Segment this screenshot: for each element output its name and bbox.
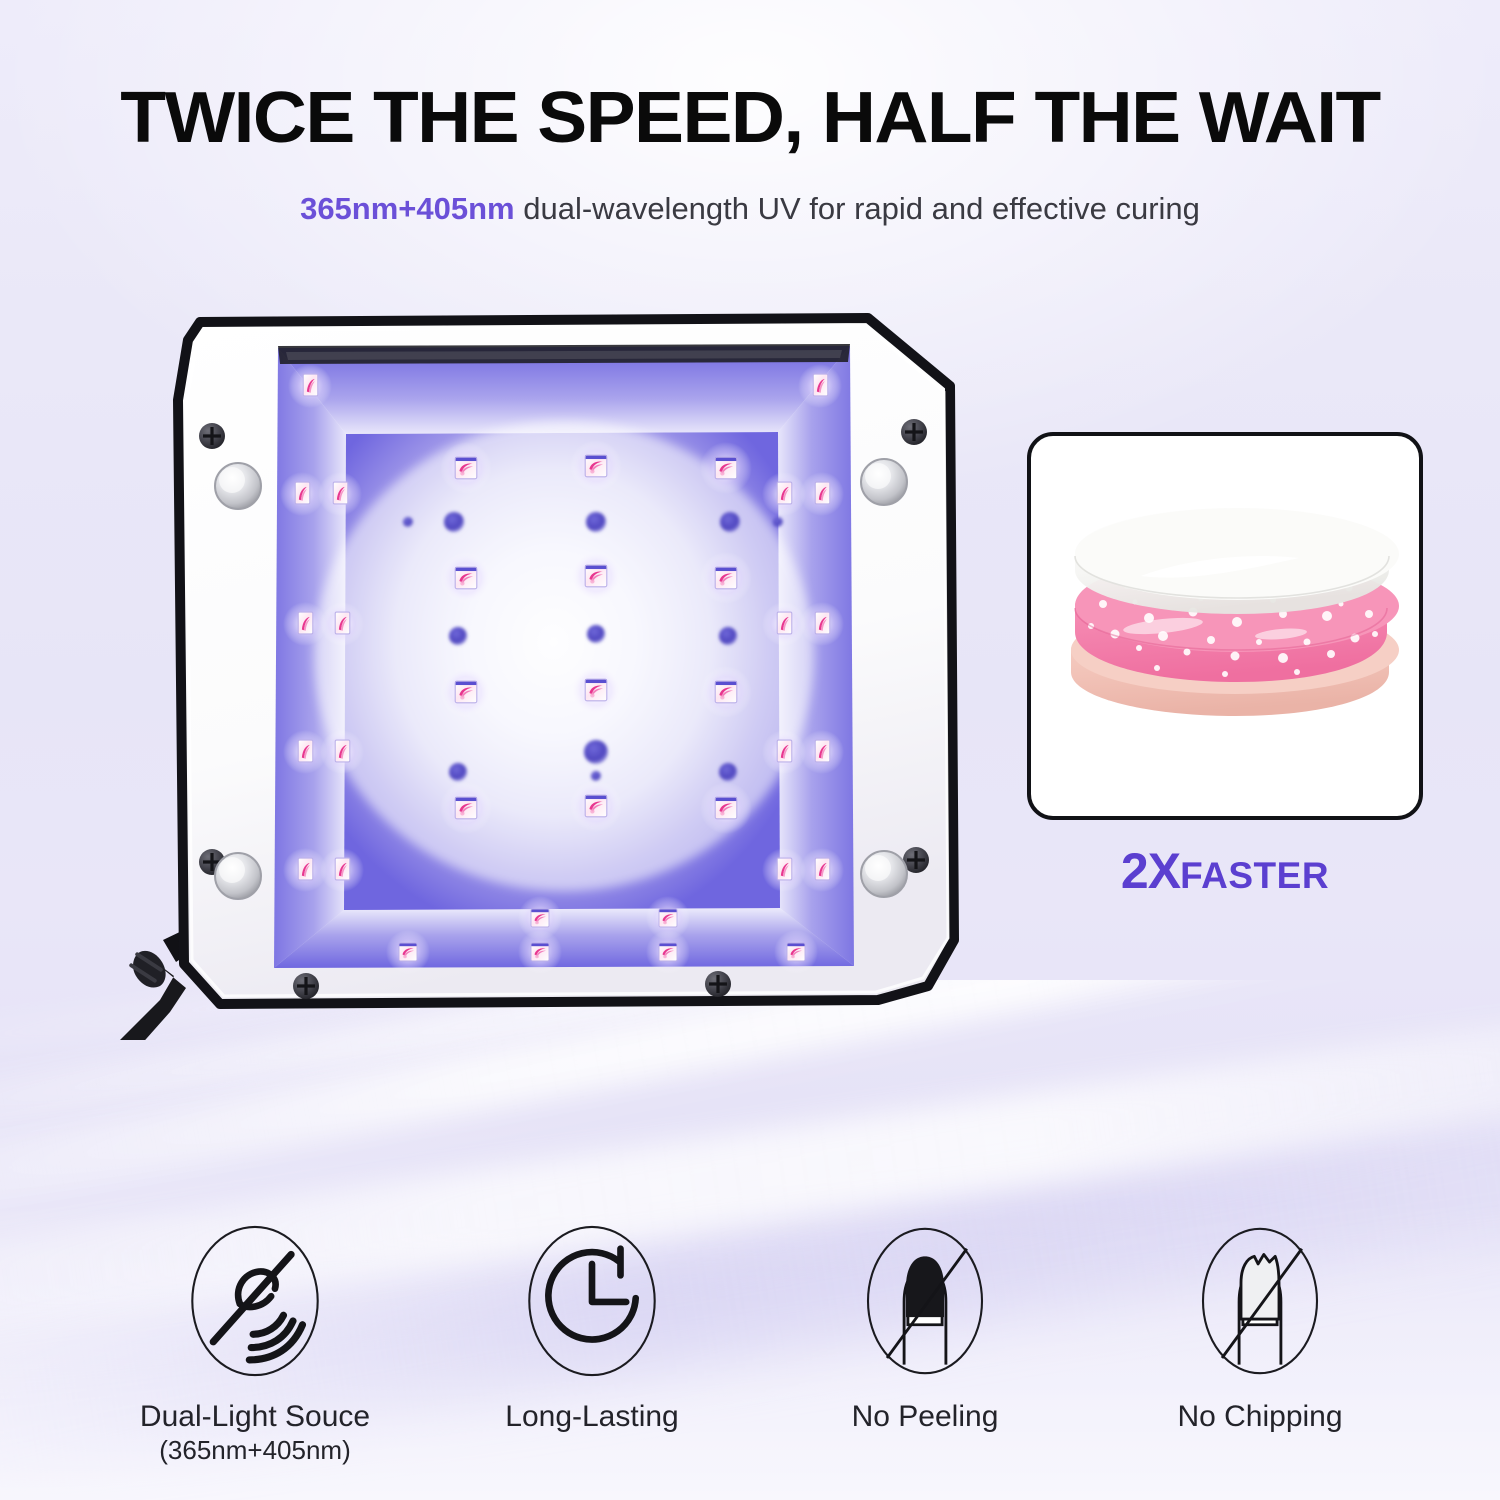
no-peeling-nail-icon <box>745 1215 1105 1387</box>
feature-label: Long-Lasting <box>412 1399 772 1434</box>
faster-badge-word: FASTER <box>1180 855 1329 896</box>
page-subtitle: 365nm+405nm dual-wavelength UV for rapid… <box>0 190 1500 227</box>
subtitle-rest: dual-wavelength UV for rapid and effecti… <box>515 191 1200 226</box>
feature-no-peeling: No Peeling <box>745 1215 1105 1434</box>
feature-label: Dual-Light Souce <box>75 1399 435 1434</box>
page-title: TWICE THE SPEED, HALF THE WAIT <box>0 82 1500 154</box>
page-root: TWICE THE SPEED, HALF THE WAIT 365nm+405… <box>0 0 1500 1500</box>
feature-sublabel: (365nm+405nm) <box>75 1434 435 1467</box>
gel-layers-illustration <box>1031 436 1423 820</box>
feature-no-chipping: No Chipping <box>1080 1215 1440 1434</box>
subtitle-accent: 365nm+405nm <box>300 191 515 226</box>
no-chipping-nail-icon <box>1080 1215 1440 1387</box>
feature-list: Dual-Light Souce (365nm+405nm) Long-Last… <box>0 1215 1500 1475</box>
faster-badge: 2XFASTER <box>1027 842 1423 900</box>
lamp-illustration <box>78 300 978 1040</box>
dual-light-source-icon <box>75 1215 435 1387</box>
feature-label: No Peeling <box>745 1399 1105 1434</box>
feature-long-lasting: Long-Lasting <box>412 1215 772 1434</box>
faster-comparison-card <box>1027 432 1423 820</box>
faster-badge-multiplier: 2X <box>1121 843 1180 899</box>
clock-icon <box>412 1215 772 1387</box>
feature-label: No Chipping <box>1080 1399 1440 1434</box>
product-image-uv-lamp <box>78 300 978 1040</box>
feature-dual-light-source: Dual-Light Souce (365nm+405nm) <box>75 1215 435 1467</box>
top-coat-layer <box>1075 508 1399 614</box>
